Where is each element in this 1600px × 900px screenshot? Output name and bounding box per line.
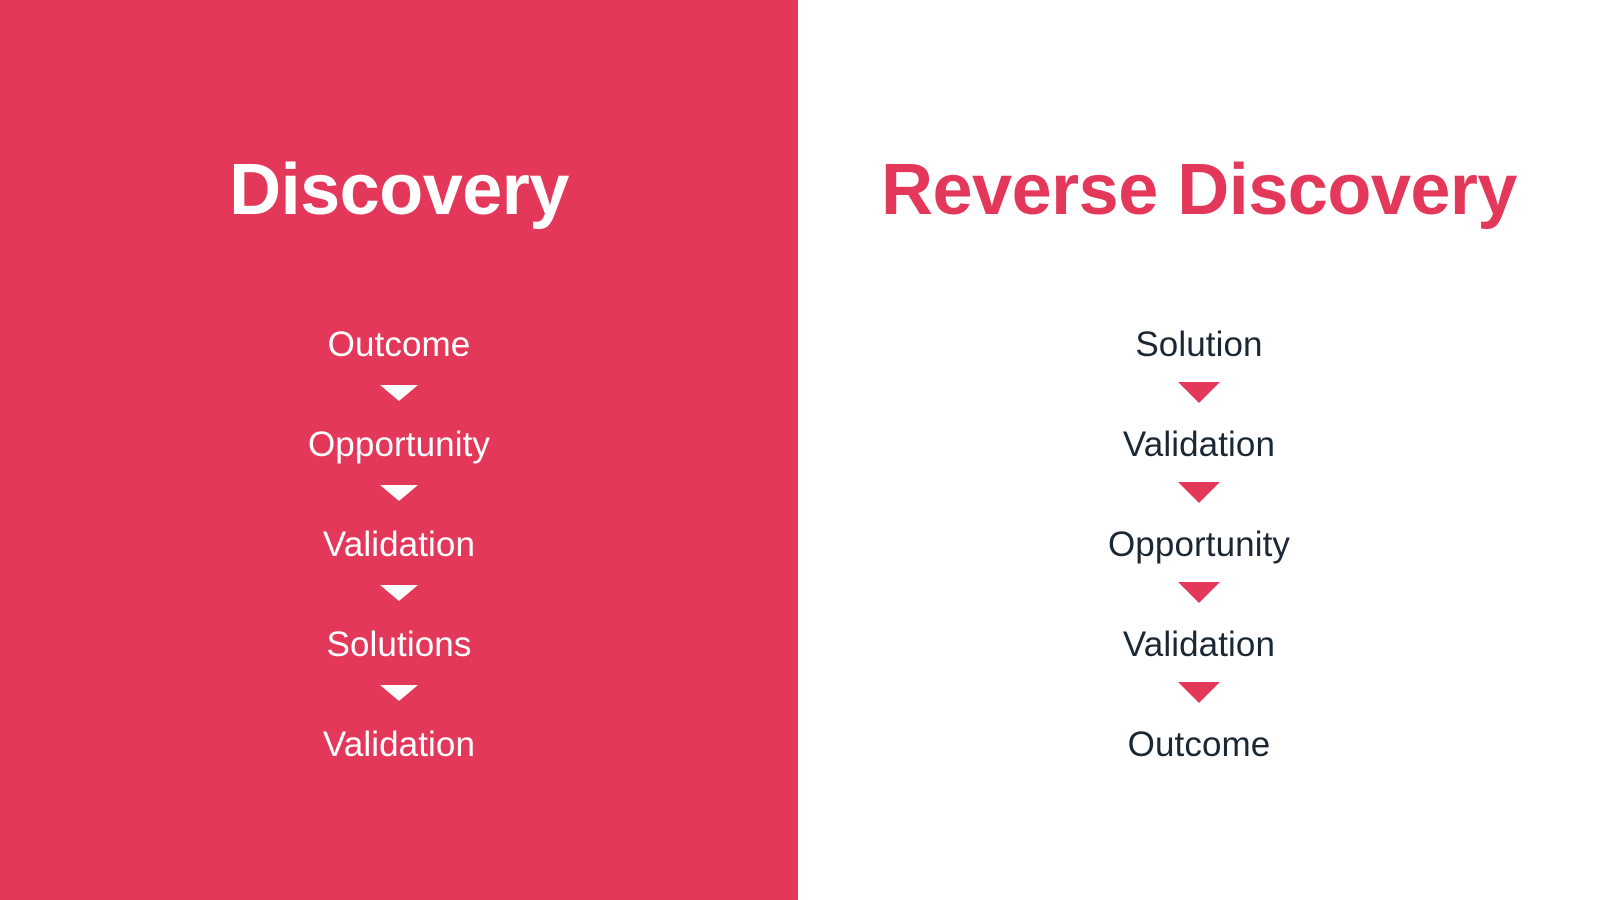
flow-step-5: Outcome [1128,722,1271,768]
triangle-down-icon [380,385,418,401]
flow-step-3: Opportunity [1108,522,1290,568]
triangle-down-icon [380,485,418,501]
triangle-down-icon [1178,382,1220,403]
panel-title-discovery: Discovery [0,146,798,234]
triangle-down-icon [1178,582,1220,603]
triangle-down-icon [380,685,418,701]
flow-step-5: Validation [323,722,475,768]
slide-root: Discovery Outcome Opportunity Validation… [0,0,1600,900]
flow-step-2: Validation [1123,422,1275,468]
panel-reverse-discovery: Reverse Discovery Solution Validation Op… [798,0,1600,900]
flow-step-3: Validation [323,522,475,568]
flow-step-4: Solutions [327,622,472,668]
flow-step-2: Opportunity [308,422,490,468]
triangle-down-icon [380,585,418,601]
flow-step-1: Outcome [328,322,471,368]
flow-reverse-discovery: Solution Validation Opportunity Validati… [798,322,1600,768]
panel-title-reverse-discovery: Reverse Discovery [798,146,1600,234]
flow-discovery: Outcome Opportunity Validation Solutions… [0,322,798,768]
panel-discovery: Discovery Outcome Opportunity Validation… [0,0,798,900]
flow-step-4: Validation [1123,622,1275,668]
triangle-down-icon [1178,682,1220,703]
flow-step-1: Solution [1135,322,1262,368]
triangle-down-icon [1178,482,1220,503]
